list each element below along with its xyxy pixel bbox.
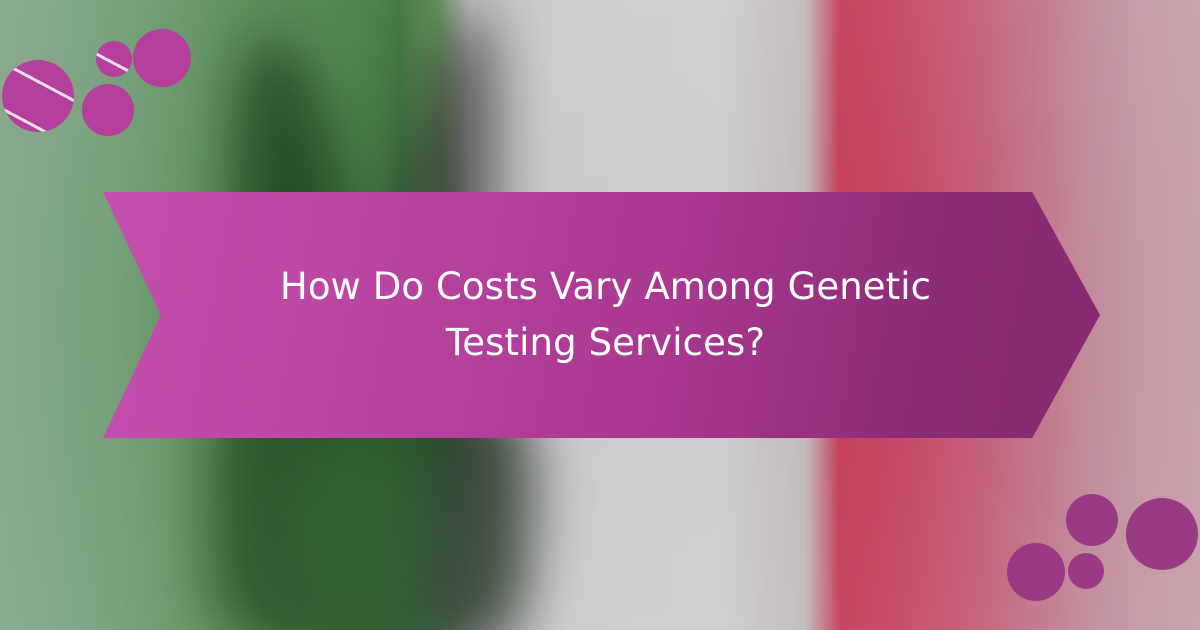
page-title: How Do Costs Vary Among Genetic Testing … [218,259,986,371]
title-banner: How Do Costs Vary Among Genetic Testing … [103,192,1100,438]
decor-circle-plain-large [1007,543,1065,601]
decor-circle-striped-small [96,41,132,77]
social-card: How Do Costs Vary Among Genetic Testing … [0,0,1200,630]
decor-circle-plain-medium [82,84,134,136]
decor-circle-plain-large [133,29,191,87]
decor-circle-striped-large [2,60,74,132]
decor-circle-striped-small [1068,553,1104,589]
decor-circle-striped-large [1126,498,1198,570]
decor-circle-plain-medium [1066,494,1118,546]
